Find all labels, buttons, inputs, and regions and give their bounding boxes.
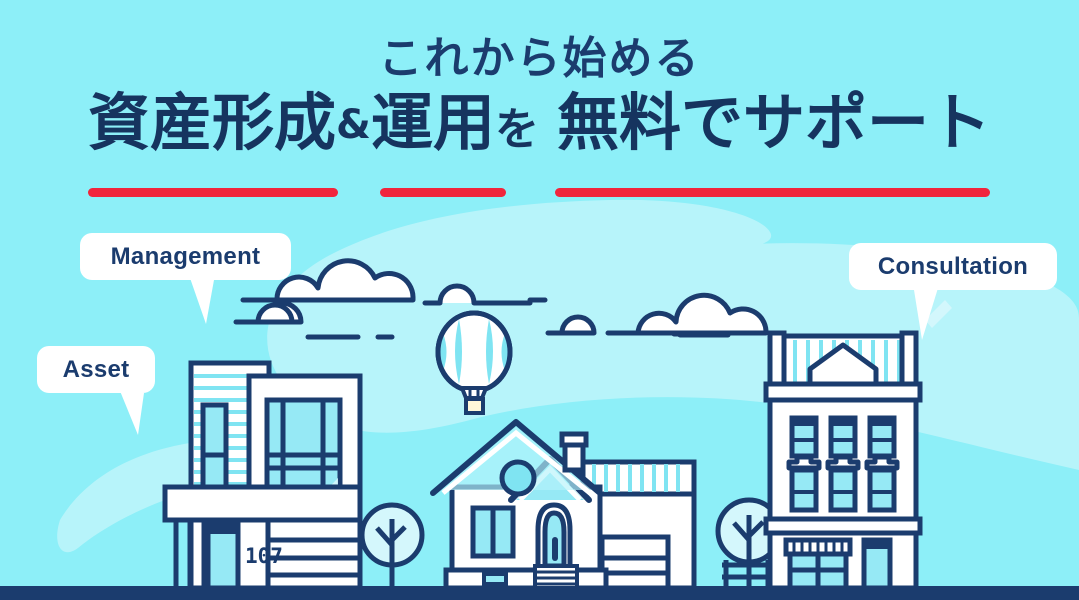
label-bubble-consultation-text: Consultation	[878, 253, 1028, 281]
headline-text: 資産形成&運用を無料でサポート	[0, 92, 1079, 154]
headline-seg-3: を	[495, 104, 539, 155]
label-bubble-management-text: Management	[111, 243, 261, 271]
headline-seg-2: 運用	[371, 86, 495, 159]
hero-banner: 107	[0, 0, 1079, 600]
house-number-107: 107	[245, 544, 283, 568]
underline-1	[88, 188, 338, 197]
underline-3	[555, 188, 990, 197]
bubble-tail-asset	[118, 389, 158, 439]
headline-seg-4: 無料でサポート	[557, 86, 991, 159]
left-modern-building: 107	[165, 363, 360, 588]
headline-group: これから始める 資産形成&運用を無料でサポート	[0, 0, 1079, 154]
headline-seg-1: &	[336, 102, 371, 148]
label-bubble-asset[interactable]: Asset	[37, 346, 155, 393]
kicker-text: これから始める	[0, 36, 1079, 82]
bubble-tail-management	[188, 276, 228, 326]
label-bubble-management[interactable]: Management	[80, 233, 291, 280]
label-bubble-consultation[interactable]: Consultation	[849, 243, 1057, 290]
headline-seg-0: 資産形成	[88, 86, 336, 159]
underline-2	[380, 188, 506, 197]
bubble-tail-consultation	[908, 286, 948, 344]
headline-underlines	[0, 188, 1079, 200]
label-bubble-asset-text: Asset	[63, 356, 130, 384]
cloud-bump-left	[258, 305, 292, 322]
right-classical-building	[766, 333, 920, 588]
